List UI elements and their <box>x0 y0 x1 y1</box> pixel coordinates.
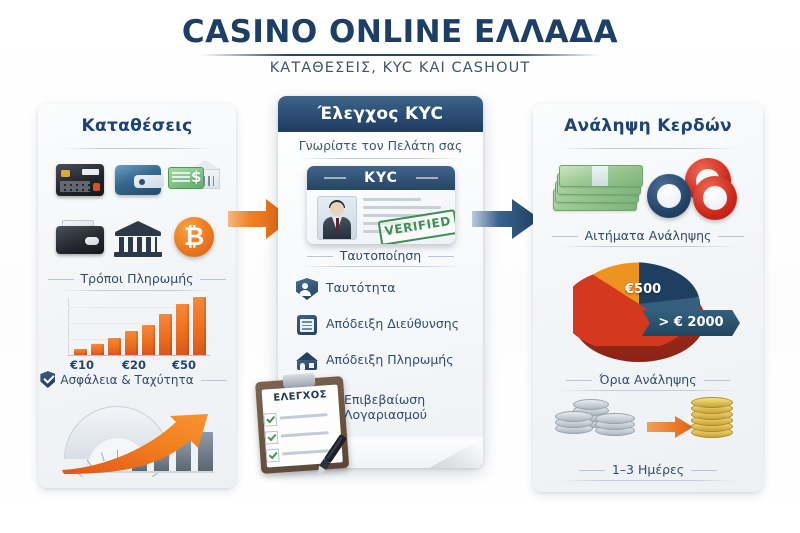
caption-rule-left-4 <box>552 236 578 237</box>
kyc-id-card: KYC VERIFIED <box>307 166 455 244</box>
orange-arrow-icon <box>647 416 693 438</box>
caption-processing-days-text: 1–3 Ημέρες <box>612 462 684 477</box>
withdraw-title-divider <box>559 148 737 149</box>
caption-identification: Ταυτοποίηση <box>278 248 483 263</box>
checklist-item-account-confirmation-label: Επιβεβαίωση Λογαριασμού <box>344 392 483 422</box>
bank-building-icon <box>112 218 164 258</box>
bar-tick-label-2: €20 <box>122 358 146 372</box>
silver-coins-icon-3 <box>595 412 633 436</box>
credit-card-terminal-icon <box>54 160 106 200</box>
arrow-kyc-to-withdraw <box>472 196 542 246</box>
bar-tick-label-3: €50 <box>172 358 196 372</box>
kyc-divider-1 <box>300 158 461 159</box>
caption-rule-left <box>48 279 74 280</box>
blue-wallet-icon <box>112 160 164 200</box>
caption-rule-left-6 <box>579 470 605 471</box>
checklist-item-identity-label: Ταυτότητα <box>326 280 396 295</box>
caption-rule-left-3 <box>307 256 333 257</box>
caption-rule-left-5 <box>566 380 592 381</box>
deposits-bar-chart: €10 €20 €50 <box>60 296 214 366</box>
kyc-divider-2 <box>300 266 461 267</box>
panel-kyc-subtitle: Γνωρίστε τον Πελάτη σας <box>278 138 483 153</box>
checklist-item-address-label: Απόδειξη Διεύθυνσης <box>326 316 459 331</box>
caption-withdraw-limits-text: Όρια Ανάληψης <box>599 372 696 387</box>
withdraw-divider-4 <box>559 480 737 481</box>
caption-rule-right <box>200 279 226 280</box>
page-subtitle: ΚΑΤΑΘΕΣΕΙΣ, KYC ΚΑΙ CASHOUT <box>0 60 800 76</box>
panel-withdraw-title: Ανάληψη Κερδών <box>533 104 763 136</box>
bar-tick-label-1: €10 <box>70 358 94 372</box>
chip-red-front <box>693 176 737 220</box>
panel-deposits-title: Καταθέσεις <box>38 104 236 136</box>
caption-rule-right-5 <box>704 380 730 381</box>
caption-withdraw-limits: Όρια Ανάληψης <box>533 372 763 387</box>
page-title: CASINO ONLINE ΕΛΛΑΔΑ <box>0 14 800 50</box>
bitcoin-coin-icon: ₿ <box>170 216 222 256</box>
panel-withdraw: Ανάληψη Κερδών Αιτήματα Ανάληψης <box>533 104 763 492</box>
caption-withdraw-requests: Αιτήματα Ανάληψης <box>533 228 763 243</box>
deposits-title-divider <box>62 148 212 149</box>
shield-check-icon <box>40 371 55 388</box>
checklist-item-account-confirmation: Επιβεβαίωση Λογαριασμού <box>344 388 483 414</box>
caption-security-speed: Ασφάλεια & Ταχύτητα <box>38 372 236 389</box>
checklist-item-address: Απόδειξη Διεύθυνσης <box>296 312 476 338</box>
caption-rule-right-2 <box>201 380 227 381</box>
cash-bundle-icon <box>549 159 645 221</box>
document-icon <box>296 314 318 336</box>
payment-icon-grid: $ ₿ <box>50 156 224 268</box>
caption-rule-right-6 <box>691 470 717 471</box>
caption-identification-text: Ταυτοποίηση <box>340 248 421 263</box>
checklist-item-identity: Ταυτότητα <box>296 276 476 302</box>
gold-coins-icon <box>691 398 731 438</box>
pen-icon <box>303 428 359 484</box>
caption-payment-methods: Τρόποι Πληρωμής <box>38 271 236 286</box>
coins-conversion-graphic <box>551 396 745 458</box>
chip-blue <box>647 174 691 218</box>
infographic-canvas: CASINO ONLINE ΕΛΛΑΔΑ ΚΑΤΑΘΕΣΕΙΣ, KYC ΚΑΙ… <box>0 0 800 533</box>
withdraw-divider-3 <box>559 390 737 391</box>
growth-arrow-icon <box>58 412 216 474</box>
house-icon <box>296 350 318 372</box>
silver-coins-icon-2 <box>555 410 591 434</box>
shield-person-icon <box>296 278 318 300</box>
checklist-item-payment-proof-label: Απόδειξη Πληρωμής <box>326 352 454 367</box>
withdraw-divider-2 <box>559 246 737 247</box>
withdraw-limits-pie-chart: €500 > € 2000 <box>555 254 741 366</box>
id-card-label: KYC <box>307 166 455 190</box>
casino-chips-icon <box>639 156 745 222</box>
speed-gauge-graphic <box>54 392 220 480</box>
pie-label-500: €500 <box>625 282 661 297</box>
caption-processing-days: 1–3 Ημέρες <box>533 462 763 477</box>
id-card-label-text: KYC <box>364 170 398 186</box>
money-bank-icon: $ <box>168 158 220 198</box>
id-photo-icon <box>317 196 357 240</box>
caption-rule-right-3 <box>428 256 454 257</box>
caption-security-speed-text: Ασφάλεια & Ταχύτητα <box>60 373 193 387</box>
checklist-item-payment-proof: Απόδειξη Πληρωμής <box>296 348 476 374</box>
deposits-divider-2 <box>62 290 212 291</box>
clipboard-icon: ΕΛΕΓΧΟΣ <box>255 371 350 475</box>
dark-wallet-icon <box>54 218 106 258</box>
panel-deposits: Καταθέσεις $ ₿ <box>38 104 236 488</box>
panel-kyc-title: Έλεγχος KYC <box>278 96 483 132</box>
pie-callout-2000: > € 2000 <box>642 310 740 336</box>
caption-payment-methods-text: Τρόποι Πληρωμής <box>81 271 194 286</box>
caption-withdraw-requests-text: Αιτήματα Ανάληψης <box>585 228 712 243</box>
caption-rule-right-4 <box>718 236 744 237</box>
title-divider <box>200 54 600 56</box>
